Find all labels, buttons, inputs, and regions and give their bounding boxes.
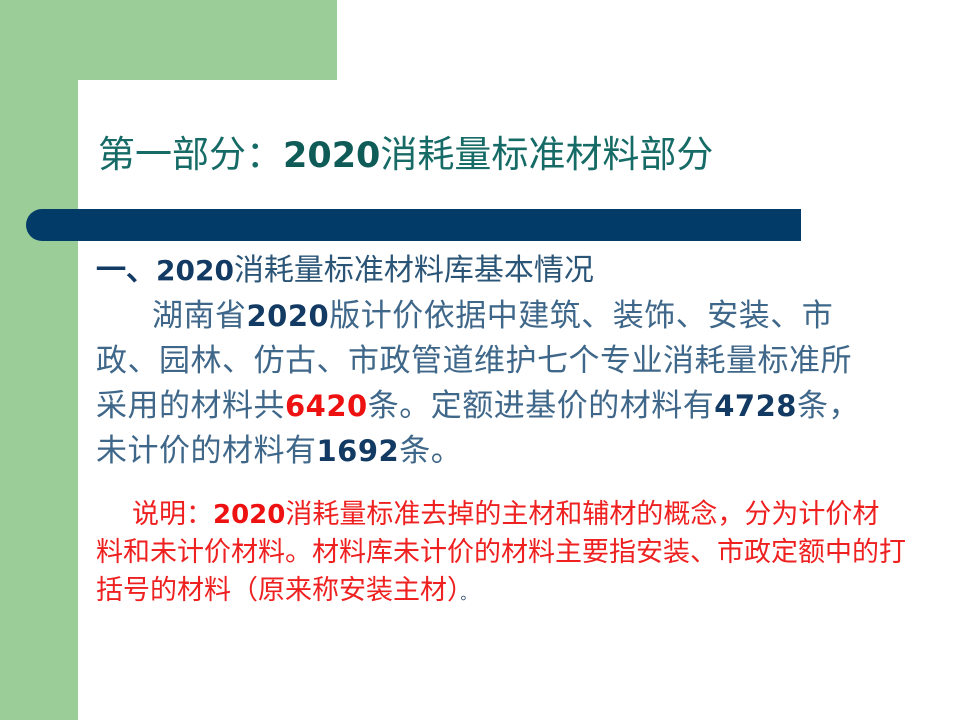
navy-accent-bar-decoration <box>26 209 801 241</box>
section-heading-lead: 一、 <box>96 253 156 288</box>
paragraph-overview-total-count: 6420 <box>285 389 368 423</box>
paragraph-overview-seg3: 条。定额进基价的材料有 <box>368 388 715 424</box>
paragraph-overview-year: 2020 <box>247 299 330 333</box>
paragraph-overview-unpriced-count: 1692 <box>317 434 400 468</box>
slide-canvas: 第一部分：2020消耗量标准材料部分 一、2020消耗量标准材料库基本情况 湖南… <box>0 0 960 720</box>
slide-title-suffix: 消耗量标准材料部分 <box>380 133 713 176</box>
slide-title-number: 2020 <box>283 136 380 176</box>
paragraph-overview: 湖南省2020版计价依据中建筑、装饰、安装、市政、园林、仿古、市政管道维护七个专… <box>96 294 876 474</box>
green-left-strip-decoration <box>0 0 78 720</box>
paragraph-note-tail-period: 。 <box>461 585 476 603</box>
green-top-block-decoration <box>0 0 337 80</box>
paragraph-overview-seg1: 湖南省 <box>152 298 247 334</box>
slide-title-prefix: 第一部分： <box>98 133 283 176</box>
paragraph-overview-seg5: 条。 <box>399 433 462 469</box>
paragraph-overview-priced-count: 4728 <box>714 389 797 423</box>
slide-title: 第一部分：2020消耗量标准材料部分 <box>98 131 938 180</box>
paragraph-note: 说明：2020消耗量标准去掉的主材和辅材的概念，分为计价材料和未计价材料。材料库… <box>96 496 906 613</box>
paragraph-note-seg1: 说明： <box>132 499 213 530</box>
slide-body: 一、2020消耗量标准材料库基本情况 湖南省2020版计价依据中建筑、装饰、安装… <box>96 250 952 613</box>
paragraph-note-year: 2020 <box>213 500 285 530</box>
section-heading-text: 消耗量标准材料库基本情况 <box>234 253 594 288</box>
section-heading-number: 2020 <box>156 254 234 287</box>
section-heading: 一、2020消耗量标准材料库基本情况 <box>96 250 952 292</box>
